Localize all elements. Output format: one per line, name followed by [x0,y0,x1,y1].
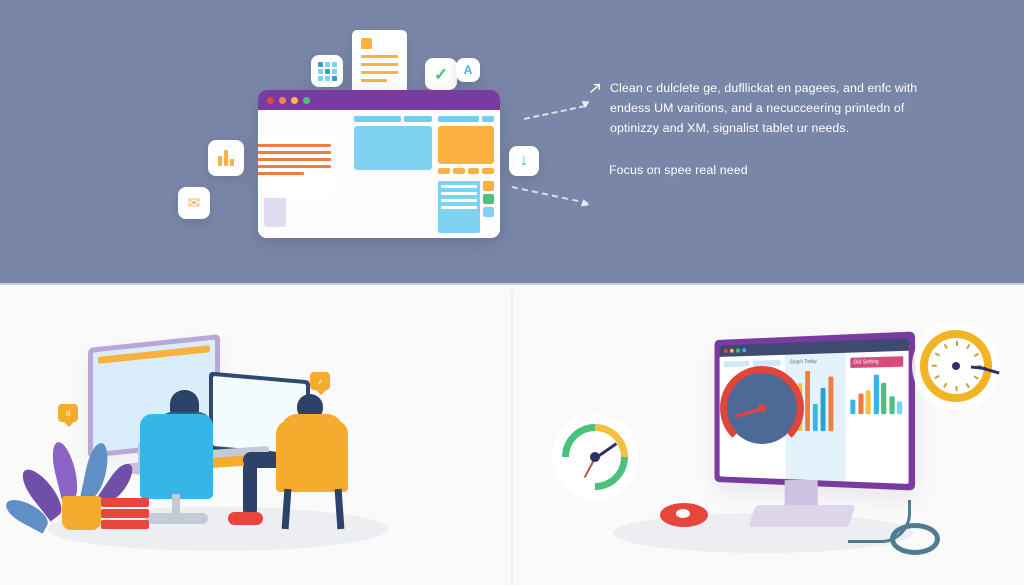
potted-plant [62,496,101,530]
monitor-header-bar [98,345,210,364]
person-right-shoe [228,512,263,525]
dashboard-list-column: Did Setting [846,351,909,484]
grid-icon-glyph [318,62,337,81]
performance-gauge-hub [590,452,600,462]
performance-gauge [562,424,628,490]
browser-overlay-card [258,136,340,198]
text-style-icon-glyph: A [464,63,473,77]
browser-hero-panel [354,126,432,170]
browser-promo-panel [438,126,494,164]
window-minimize-dot [279,97,286,104]
hero-section: ✓ A ✉ ↓ [0,0,1024,285]
document-icon-thumb [361,38,372,49]
window-maximize-dot [291,97,298,104]
callout-item-primary: Clean c dulclete ge, dufllickat en pagee… [590,78,942,138]
window-close-dot [267,97,274,104]
book-stack-bottom [101,520,149,529]
window-extra-dot [303,97,310,104]
download-icon: ↓ [509,146,539,176]
person-right-shin [243,462,257,516]
mouse-ring [890,523,940,555]
chair-legs [146,513,208,524]
mail-icon: ✉ [178,187,210,219]
clock-hub [952,362,960,370]
bullet-marker-icon [590,160,600,180]
browser-promo-column [438,116,494,176]
callout-primary-text: Clean c dulclete ge, dufllickat en pagee… [610,78,942,138]
browser-content [258,110,500,238]
dashboard-bar-chart-b [851,372,904,414]
bar-chart-icon-glyph [218,150,234,166]
notification-bubble-right-glyph: ♪ [318,376,323,386]
browser-hero-column [354,116,432,176]
notification-bubble-right: ♪ [310,372,330,390]
grid-icon [311,55,343,87]
office-chair-orange [276,420,348,492]
text-style-icon: A [456,58,480,82]
notification-bubble-left: ıl [58,404,78,422]
browser-right-list [438,181,480,233]
book-stack-middle [101,509,149,518]
download-icon-glyph: ↓ [520,152,528,170]
speedometer-hub [758,404,766,412]
red-disk-hole [676,509,690,518]
mail-icon-glyph: ✉ [188,194,201,212]
hero-bottom-band [0,283,1024,285]
illustration-canvas: ✓ A ✉ ↓ [0,0,1024,585]
notification-bubble-left-glyph: ıl [66,408,71,418]
connector-arrow-bottom [581,199,590,209]
checklist-icon-glyph: ✓ [434,66,448,83]
arrow-marker-icon [590,78,601,138]
speedometer-gauge [726,372,798,444]
bar-chart-icon [208,140,244,176]
browser-titlebar [258,90,500,110]
callout-item-secondary: Focus on spee real need [590,160,942,180]
office-chair-blue [140,414,213,499]
dashboard-monitor-base [748,505,855,527]
browser-window-mockup [258,90,500,238]
dashboard-panel-label: Snap't Today [790,358,841,365]
connector-line-top [524,105,585,120]
callout-secondary-text: Focus on spee real need [609,160,748,180]
clock-hour-hand [971,366,986,370]
browser-right-tiles [483,181,494,233]
document-icon [352,30,407,95]
dashboard-accent-tab: Did Setting [851,356,904,368]
checklist-icon: ✓ [425,58,457,90]
connector-line-bottom [512,186,589,204]
browser-right-widget [438,181,494,233]
callout-text-block: Clean c dulclete ge, dufllickat en pagee… [590,78,942,202]
wall-clock [920,330,992,402]
book-stack-top [101,498,149,507]
